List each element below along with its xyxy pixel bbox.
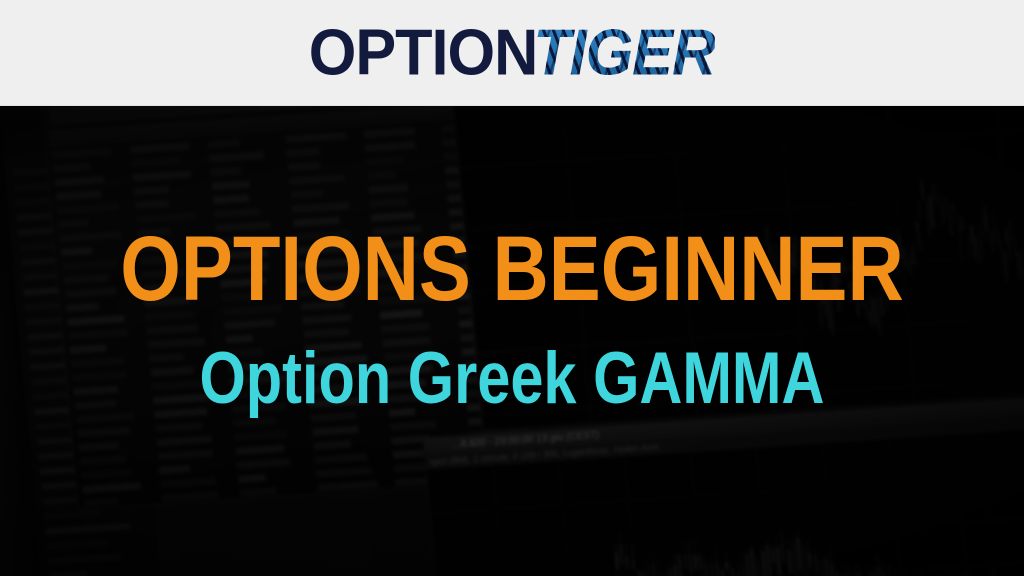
candle-wick	[1005, 229, 1007, 242]
table-cell	[219, 263, 269, 273]
candle-wick	[894, 570, 898, 576]
table-cell	[315, 453, 367, 463]
table-cell	[162, 491, 220, 502]
candle-wick	[914, 221, 916, 231]
table-cell	[365, 141, 416, 151]
table-cell	[231, 390, 261, 399]
candle-wick	[967, 572, 971, 576]
table-cell	[153, 394, 209, 405]
candle-wick	[919, 182, 921, 192]
table-cell	[293, 217, 340, 227]
table-cell	[140, 255, 179, 265]
candle-wick	[1020, 250, 1023, 274]
table-cell	[214, 208, 261, 218]
table-cell	[145, 310, 194, 320]
table-cell	[370, 198, 407, 207]
table-cell	[157, 436, 212, 447]
candle-wick	[884, 275, 888, 311]
table-cell	[75, 400, 116, 410]
table-cell	[223, 305, 282, 316]
table-cell	[375, 253, 425, 263]
candle-wick	[946, 571, 949, 576]
table-cell	[134, 186, 169, 195]
table-cell	[144, 297, 189, 307]
logo-word-option: OPTION	[309, 20, 537, 85]
table-cell	[220, 278, 266, 288]
candle-wick	[849, 282, 852, 300]
table-cell	[79, 442, 120, 452]
table-cell	[61, 247, 92, 256]
table-cell	[311, 412, 356, 422]
table-cell	[62, 259, 117, 270]
table-cell	[82, 482, 141, 493]
table-cell	[374, 239, 419, 249]
candle-wick	[917, 222, 921, 251]
candle-wick	[845, 266, 847, 274]
brand-logo: OPTIONTIGER	[311, 20, 713, 85]
candle-wick	[936, 188, 939, 205]
table-cell	[312, 426, 359, 436]
table-cell	[72, 371, 127, 382]
table-cell	[210, 167, 241, 176]
table-cell	[77, 427, 130, 437]
table-cell	[389, 408, 416, 417]
candle-wick	[993, 567, 996, 576]
candle-wick	[906, 249, 909, 268]
table-cell	[143, 284, 173, 293]
candle-wick	[1008, 238, 1011, 260]
table-cell	[236, 445, 285, 455]
candle-wick	[888, 564, 893, 576]
table-cell	[289, 174, 344, 185]
table-cell	[367, 171, 395, 180]
table-cell	[158, 449, 213, 460]
table-cell	[286, 132, 347, 143]
panel-tab	[50, 105, 126, 125]
table-cell	[217, 236, 255, 245]
candle-wick	[1009, 220, 1012, 241]
candle-wick	[797, 238, 799, 251]
table-cell	[385, 365, 432, 375]
table-cell	[80, 455, 126, 465]
table-cell	[394, 463, 429, 472]
candle-wick	[819, 280, 822, 305]
candle-wick	[766, 225, 770, 255]
monitor-plane: EURUSD - 1,35379 - 00:00:00 14 giu (EEST…	[0, 105, 1024, 576]
table-cell	[296, 244, 345, 254]
table-cell	[372, 225, 422, 235]
table-cell	[292, 202, 350, 213]
table-cell	[298, 272, 354, 283]
candle-wick	[933, 183, 936, 201]
table-cell	[58, 219, 89, 228]
table-cell	[215, 221, 270, 232]
candle-wick	[658, 558, 663, 576]
table-cell	[149, 353, 183, 362]
table-cell	[317, 481, 377, 492]
candle-wick	[945, 198, 948, 216]
table-cell	[135, 200, 169, 209]
table-cell	[53, 163, 90, 172]
table-cell	[155, 422, 203, 432]
table-cell	[130, 142, 189, 153]
table-cell	[138, 228, 171, 237]
candle-wick	[920, 571, 924, 576]
table-cell	[380, 309, 422, 319]
table-cell	[314, 440, 352, 449]
table-cell	[71, 357, 124, 367]
candle-wick	[1004, 249, 1008, 282]
table-cell	[376, 268, 412, 277]
table-cell	[209, 152, 264, 163]
logo-word-tiger: TIGER	[533, 20, 715, 85]
table-cell	[139, 242, 173, 251]
table-cell	[76, 413, 135, 424]
candle-wick	[883, 562, 887, 576]
table-cell	[301, 301, 344, 311]
tree-item	[25, 302, 63, 310]
table-cell	[159, 465, 191, 474]
table-cell	[300, 285, 361, 296]
candle-wick	[814, 278, 817, 299]
candle-wick	[921, 180, 924, 201]
table-cell	[379, 294, 439, 305]
table-cell	[384, 350, 438, 360]
table-cell	[288, 162, 321, 171]
tree-item	[48, 554, 121, 565]
table-cell	[69, 329, 128, 340]
table-cell	[310, 397, 369, 408]
table-cell	[63, 274, 109, 284]
table-cell	[303, 328, 350, 338]
table-cell	[56, 190, 101, 200]
table-cell	[308, 384, 348, 394]
candle-wick	[784, 253, 786, 266]
candle-wick	[842, 256, 845, 274]
table-cell	[81, 469, 131, 479]
candle-wick	[918, 201, 921, 219]
candle-wick	[949, 213, 952, 236]
table-cell	[84, 498, 119, 507]
table-cell	[208, 139, 240, 148]
table-cell	[227, 348, 264, 357]
table-cell	[136, 212, 197, 223]
table-cell	[212, 180, 251, 190]
background-photo: EURUSD - 1,35379 - 00:00:00 14 giu (EEST…	[0, 105, 1024, 576]
table-cell	[371, 212, 414, 222]
table-cell	[65, 288, 117, 298]
candle-wick	[774, 262, 778, 297]
table-cell	[234, 431, 286, 441]
table-cell	[307, 369, 363, 380]
panel-tab	[126, 105, 193, 119]
tree-item	[47, 540, 107, 550]
table-cell	[228, 362, 257, 371]
table-cell	[132, 170, 191, 181]
table-cell	[74, 386, 119, 396]
table-cell	[238, 474, 265, 483]
tree-item	[42, 496, 79, 504]
candle-wick	[850, 264, 852, 272]
table-cell	[366, 156, 403, 165]
candle-wick	[882, 282, 884, 294]
table-cell	[306, 355, 368, 366]
candle-wick	[888, 263, 890, 271]
table-cell	[381, 323, 430, 333]
candle-wick	[801, 259, 804, 280]
table-cell	[224, 319, 274, 329]
table-cell	[141, 269, 184, 279]
candle-wick	[1014, 238, 1017, 256]
table-cell	[237, 458, 289, 468]
candle-wick	[775, 244, 778, 265]
chart1-plot-area	[454, 105, 1024, 430]
candle-wick	[858, 284, 860, 296]
tree-item	[49, 571, 88, 576]
table-cell	[70, 344, 106, 353]
candle-wick	[996, 229, 999, 248]
table-cell	[52, 148, 111, 159]
table-cell	[131, 157, 180, 167]
table-cell	[369, 184, 408, 194]
table-cell	[233, 417, 276, 427]
table-cell	[160, 477, 216, 488]
candle-wick	[984, 206, 987, 232]
table-cell	[226, 335, 254, 344]
candle-wick	[951, 203, 953, 213]
table-cell	[218, 249, 269, 259]
table-cell	[146, 324, 197, 334]
candle-wick	[770, 244, 774, 272]
candle-wick	[963, 217, 965, 230]
candle-wick	[899, 234, 902, 260]
table-cell	[287, 148, 320, 157]
table-cell	[232, 403, 286, 414]
table-cell	[60, 231, 122, 242]
table-cell	[222, 292, 255, 301]
candle-wick	[865, 302, 867, 317]
table-cell	[291, 190, 324, 199]
table-cell	[386, 379, 426, 389]
table-cell	[67, 315, 124, 326]
table-cell	[316, 467, 371, 478]
candle-wick	[954, 205, 957, 222]
tree-item	[45, 523, 131, 535]
table-cell	[57, 203, 118, 214]
table-cell	[294, 230, 350, 241]
table-cell	[151, 380, 203, 390]
table-cell	[297, 258, 354, 269]
table-cell	[363, 127, 415, 137]
candle-wick	[852, 568, 856, 576]
table-cell	[302, 314, 351, 324]
candle-wick	[877, 554, 882, 576]
table-cell	[239, 487, 276, 496]
table-cell	[154, 408, 208, 419]
table-cell	[55, 176, 105, 186]
chart-window-eurusd-ticks: EURUSD - 1,35379 - 00:00:00 14 giu (EEST…	[449, 105, 1024, 432]
table-cell	[66, 303, 99, 312]
table-cell	[148, 338, 206, 349]
table-cell	[377, 282, 412, 291]
table-cell	[382, 337, 430, 347]
table-cell	[213, 195, 250, 204]
slide-canvas: EURUSD - 1,35379 - 00:00:00 14 giu (EEST…	[0, 0, 1024, 576]
candle-wick	[736, 560, 740, 576]
candle-wick	[862, 296, 864, 306]
candle-wick	[829, 297, 833, 335]
candle-wick	[664, 566, 668, 576]
table-cell	[305, 341, 362, 352]
tree-item	[44, 510, 102, 520]
table-cell	[229, 374, 291, 385]
table-cell	[390, 421, 436, 431]
candle-wick	[838, 277, 840, 285]
table-cell	[150, 367, 194, 377]
panel-tab	[194, 105, 257, 115]
logo-banner: OPTIONTIGER	[0, 0, 1024, 106]
candle-wick	[881, 296, 884, 315]
candle-wick	[885, 253, 887, 267]
table-cell	[388, 393, 433, 403]
